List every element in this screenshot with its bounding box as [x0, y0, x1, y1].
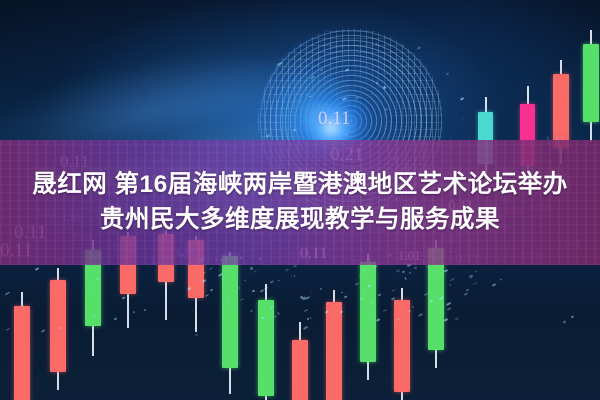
data-particle [309, 317, 311, 319]
candlestick-body [292, 340, 308, 400]
candlestick-body [258, 300, 274, 396]
candlestick-body [360, 262, 376, 362]
headline-line-2: 贵州民大多维度展现教学与服务成果 [100, 205, 500, 236]
headline-line-1: 晟红网 第16届海峡两岸暨港澳地区艺术论坛举办 [32, 170, 568, 201]
promotional-news-banner: 0.110.211.111.111.113.110.111.011.010.11… [0, 0, 600, 400]
candlestick-body [222, 256, 238, 368]
candlestick-body [50, 280, 66, 372]
candlestick-bar [222, 252, 238, 394]
candlestick-bar [258, 284, 274, 400]
data-particle [143, 308, 146, 310]
candlestick-bar [292, 322, 308, 400]
candlestick-bar [14, 292, 30, 400]
floating-number: 0.11 [318, 108, 351, 130]
candlestick-bar [394, 288, 410, 400]
candlestick-body [14, 306, 30, 400]
data-particle [290, 275, 292, 276]
data-particle [319, 288, 321, 290]
candlestick-bar [583, 30, 599, 142]
headline-block: 晟红网 第16届海峡两岸暨港澳地区艺术论坛举办 贵州民大多维度展现教学与服务成果 [0, 140, 600, 265]
candlestick-body [326, 302, 342, 400]
candlestick-body [583, 44, 599, 122]
candlestick-body [394, 300, 410, 392]
candlestick-bar [326, 290, 342, 400]
data-particle [375, 43, 377, 45]
candlestick-bar [50, 268, 66, 390]
